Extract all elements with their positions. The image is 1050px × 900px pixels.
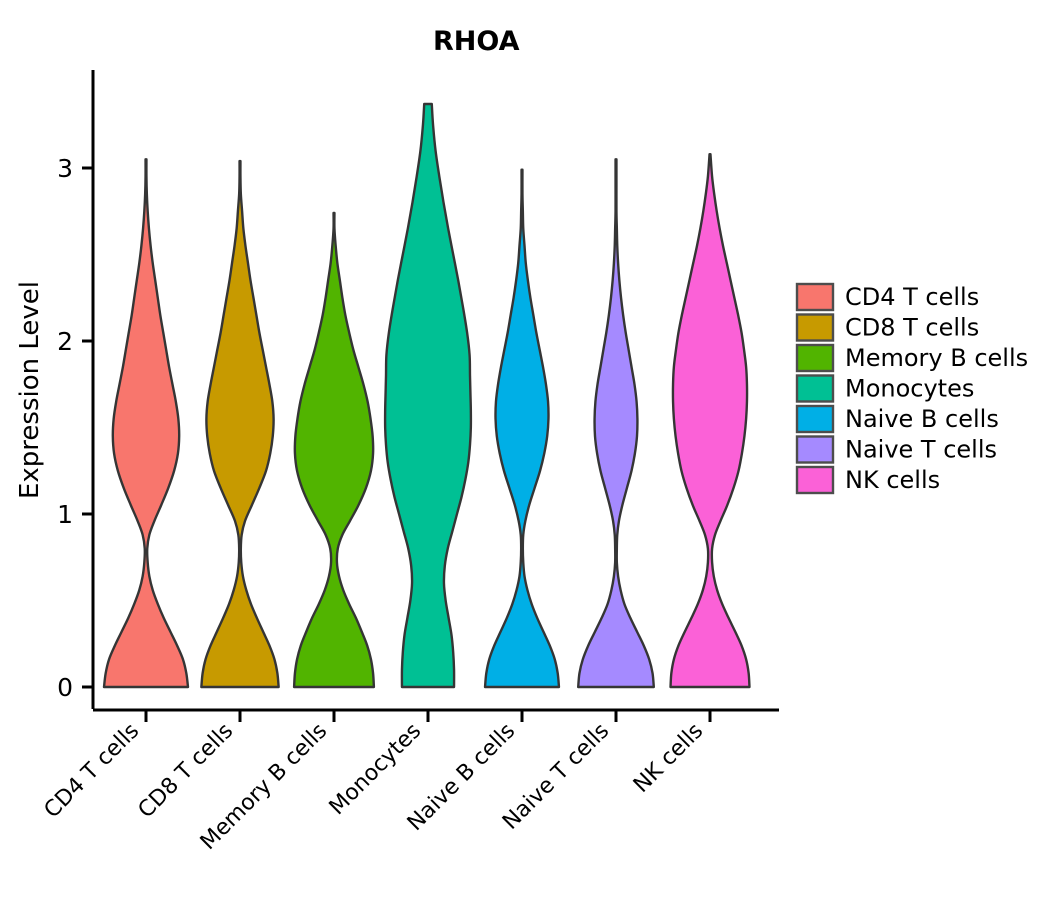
y-axis-title: Expression Level — [15, 281, 45, 499]
violin-plot-figure: RHOA 0123 CD4 T cellsCD8 T cellsMemory B… — [0, 0, 1050, 900]
y-tick-label: 0 — [57, 673, 73, 702]
legend-swatch-nk-cells[interactable] — [797, 467, 833, 493]
x-tick-label: CD8 T cells — [134, 719, 239, 824]
legend-swatch-cd8-t-cells[interactable] — [797, 315, 833, 341]
violin-naive-b-cells[interactable] — [485, 170, 559, 687]
legend-label-cd4-t-cells: CD4 T cells — [845, 283, 979, 311]
y-tick-label: 2 — [57, 327, 73, 356]
legend-swatch-memory-b-cells[interactable] — [797, 345, 833, 371]
legend: CD4 T cellsCD8 T cellsMemory B cellsMono… — [797, 283, 1028, 494]
x-tick-label: CD4 T cells — [40, 719, 145, 824]
legend-swatch-naive-b-cells[interactable] — [797, 406, 833, 432]
legend-label-nk-cells: NK cells — [845, 466, 940, 494]
plot-canvas: RHOA 0123 CD4 T cellsCD8 T cellsMemory B… — [0, 0, 1050, 900]
violin-memory-b-cells[interactable] — [294, 213, 374, 687]
violin-naive-t-cells[interactable] — [578, 159, 654, 687]
legend-label-naive-t-cells: Naive T cells — [845, 436, 997, 464]
legend-swatch-naive-t-cells[interactable] — [797, 437, 833, 463]
legend-swatch-cd4-t-cells[interactable] — [797, 284, 833, 310]
legend-label-naive-b-cells: Naive B cells — [845, 405, 999, 433]
x-ticks-group: CD4 T cellsCD8 T cellsMemory B cellsMono… — [40, 710, 710, 855]
legend-label-cd8-t-cells: CD8 T cells — [845, 314, 979, 342]
legend-label-monocytes: Monocytes — [845, 375, 974, 403]
violin-nk-cells[interactable] — [671, 154, 750, 687]
y-ticks-group: 0123 — [57, 154, 93, 702]
y-tick-label: 3 — [57, 154, 73, 183]
x-tick-label: NK cells — [629, 719, 708, 798]
violin-monocytes[interactable] — [385, 104, 471, 687]
page-title: RHOA — [433, 26, 520, 57]
y-tick-label: 1 — [57, 500, 73, 529]
violin-cd8-t-cells[interactable] — [201, 161, 278, 687]
legend-label-memory-b-cells: Memory B cells — [845, 344, 1028, 372]
violin-cd4-t-cells[interactable] — [104, 159, 188, 687]
legend-swatch-monocytes[interactable] — [797, 376, 833, 402]
violins-group — [104, 104, 749, 687]
x-tick-label: Monocytes — [325, 719, 427, 821]
